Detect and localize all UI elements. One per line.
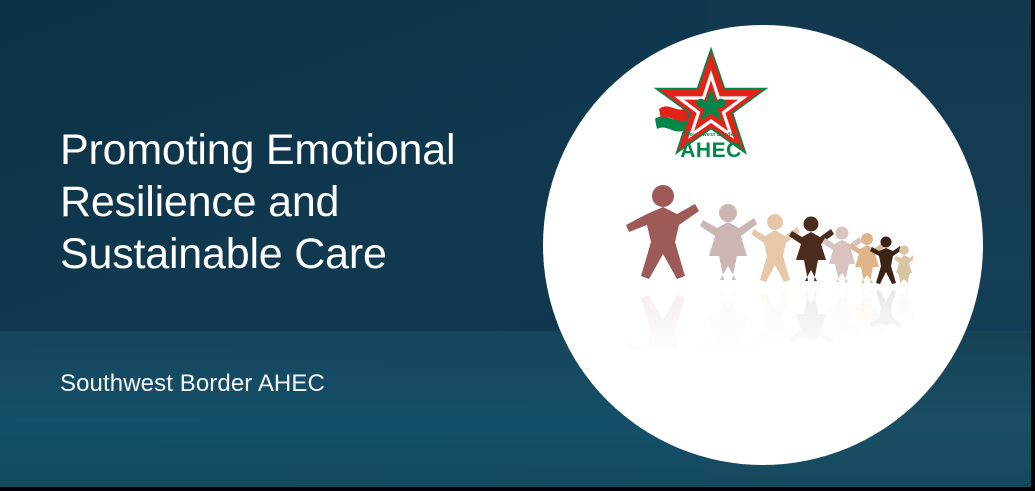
presentation-slide: Promoting Emotional Resilience and Susta… [0, 0, 1035, 491]
people-illustration-icon [623, 180, 913, 355]
figure-2-female [700, 204, 757, 280]
southwest-border-ahec-logo: Southwest Border AHEC [651, 45, 771, 175]
slide-right-edge [1031, 0, 1035, 491]
figure-3-male [751, 214, 800, 282]
white-circle-panel: Southwest Border AHEC [543, 25, 983, 465]
reflection-fade [623, 284, 913, 355]
logo-tagline: Southwest Border [651, 133, 771, 139]
figures-group [626, 185, 913, 285]
logo-wordmark: Southwest Border AHEC [651, 133, 771, 161]
text-column: Promoting Emotional Resilience and Susta… [60, 0, 530, 491]
slide-subtitle: Southwest Border AHEC [60, 370, 530, 398]
logo-acronym: AHEC [651, 140, 771, 161]
slide-title: Promoting Emotional Resilience and Susta… [60, 124, 530, 280]
slide-bottom-edge [0, 487, 1035, 491]
figure-1-male [626, 185, 699, 279]
figure-4-female [789, 217, 834, 282]
people-holding-hands-illustration [623, 180, 913, 355]
